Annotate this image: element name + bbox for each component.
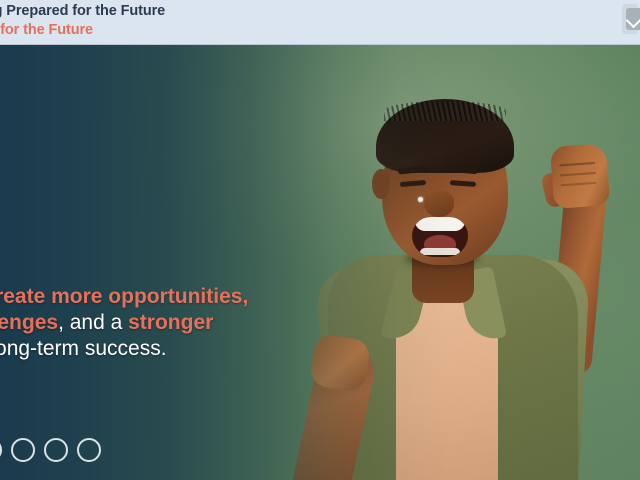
page-root: Briefs® Being Prepared for the Future of… xyxy=(0,0,640,480)
header-title-group: Briefs® Being Prepared for the Future of… xyxy=(0,2,165,39)
hero-headline: e habits create more opportunities,ther … xyxy=(0,285,374,363)
hero-headline-emphasis: stronger xyxy=(128,311,213,334)
hero-headline-line: e habits create more opportunities, xyxy=(0,285,374,309)
hero-headline-text: for long-term success. xyxy=(0,337,167,360)
page-title: Briefs® Being Prepared for the Future xyxy=(0,2,165,20)
carousel-indicators[interactable] xyxy=(0,438,101,462)
header-chevron-button[interactable] xyxy=(626,8,640,30)
hero-headline-text: , and a xyxy=(58,311,128,334)
hero-headline-line: ther challenges, and a stronger xyxy=(0,311,374,335)
chevron-down-icon xyxy=(626,13,640,29)
page-header: Briefs® Being Prepared for the Future of… xyxy=(0,0,640,45)
hero-headline-line: ation for long-term success. xyxy=(0,337,374,361)
page-subtitle: of Preparing for the Future xyxy=(0,21,165,39)
page-title-suffix: Being Prepared for the Future xyxy=(0,3,165,19)
carousel-dot-1[interactable] xyxy=(0,438,2,462)
carousel-dot-3[interactable] xyxy=(44,438,68,462)
carousel-dot-4[interactable] xyxy=(77,438,101,462)
hero-headline-emphasis: ther challenges xyxy=(0,311,58,334)
hero-text-scrim xyxy=(0,45,640,480)
carousel-dot-2[interactable] xyxy=(11,438,35,462)
hero-banner: e habits create more opportunities,ther … xyxy=(0,45,640,480)
hero-headline-emphasis: create more opportunities, xyxy=(0,285,248,308)
